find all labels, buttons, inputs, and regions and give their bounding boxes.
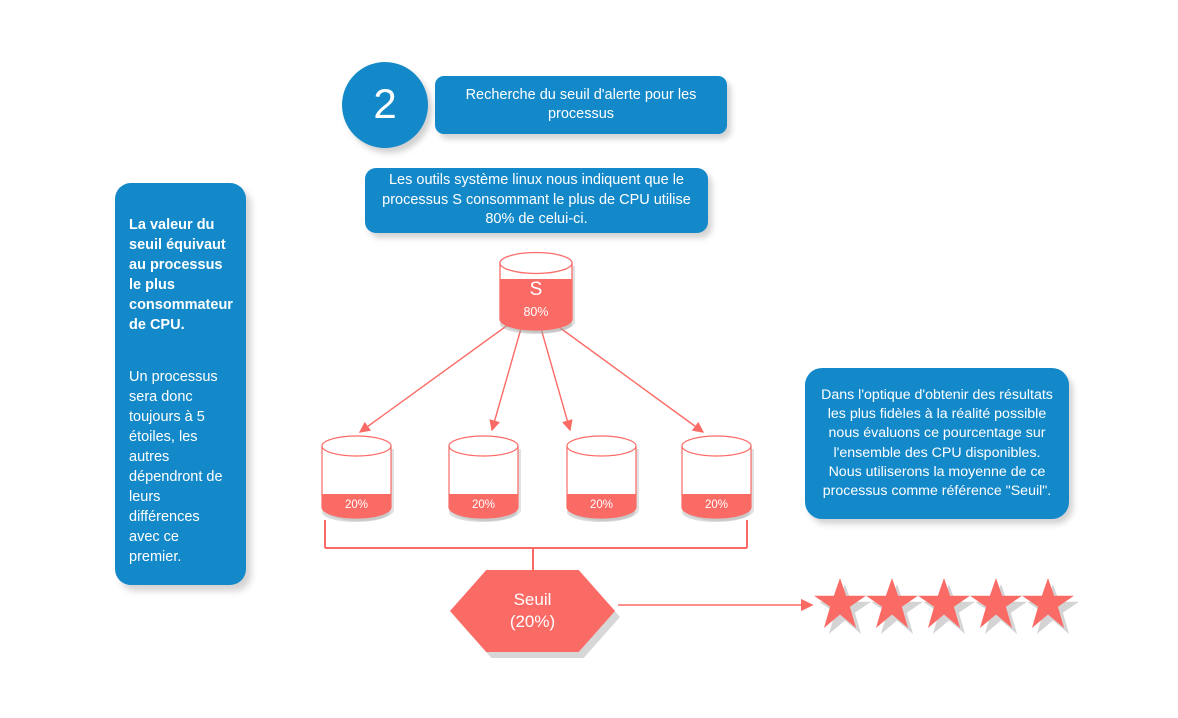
side-note-bold: La valeur du seuil équivaut au processus… (129, 215, 232, 335)
callout-top: Les outils système linux nous indiquent … (365, 168, 708, 233)
diagram-canvas: 2 Recherche du seuil d'alerte pour les p… (0, 0, 1178, 718)
cpu-cylinder-3: 20% (565, 435, 638, 519)
star-icon (970, 578, 1022, 628)
source-process-cylinder: S 80% (497, 252, 575, 330)
threshold-hexagon: Seuil (20%) (450, 570, 615, 652)
star-icon (1022, 578, 1074, 628)
side-note-panel: La valeur du seuil équivaut au processus… (115, 183, 246, 585)
cpu-cylinder-4: 20% (680, 435, 753, 519)
callout-right-text: Dans l'optique d'obtenir des résultats l… (817, 386, 1057, 502)
threshold-value: (20%) (510, 611, 555, 633)
step-number-badge: 2 (342, 62, 428, 148)
callout-top-text: Les outils système linux nous indiquent … (377, 171, 696, 229)
side-note-body: Un processus sera donc toujours à 5 étoi… (129, 367, 232, 567)
star-icon (814, 578, 866, 628)
step-number: 2 (373, 83, 396, 128)
star-rating (814, 578, 1074, 628)
star-icon (866, 578, 918, 628)
step-title-box: Recherche du seuil d'alerte pour les pro… (435, 76, 727, 134)
step-title-text: Recherche du seuil d'alerte pour les pro… (455, 86, 707, 124)
threshold-label: Seuil (514, 589, 552, 611)
cpu-cylinder-2: 20% (447, 435, 520, 519)
cpu-cylinder-1: 20% (320, 435, 393, 519)
star-icon (918, 578, 970, 628)
callout-right: Dans l'optique d'obtenir des résultats l… (805, 368, 1069, 519)
